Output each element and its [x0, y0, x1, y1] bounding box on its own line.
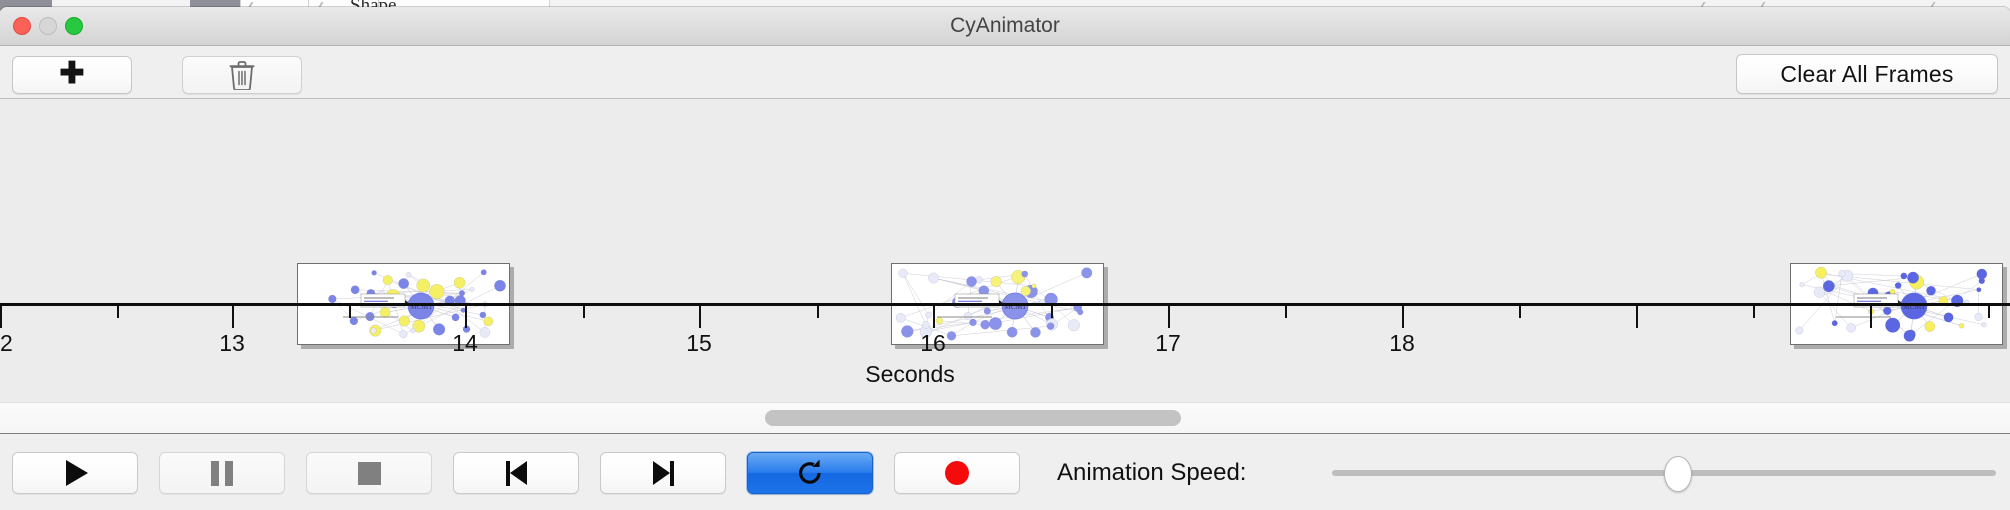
ruler-major-tick — [1402, 306, 1404, 328]
playback-controls-bar: Animation Speed: — [0, 434, 2010, 510]
ruler-major-tick — [933, 306, 935, 328]
pause-button[interactable] — [159, 452, 285, 494]
ruler-axis-caption: Seconds — [865, 361, 955, 388]
ruler-tick-label: 12 — [0, 330, 13, 357]
ruler-tick-label: 15 — [686, 330, 712, 357]
window-titlebar: CyAnimator — [0, 7, 2010, 46]
ruler-major-tick — [0, 306, 2, 328]
record-button[interactable] — [894, 452, 1020, 494]
ruler-major-tick — [699, 306, 701, 328]
ruler-tick-label: 17 — [1155, 330, 1181, 357]
ruler-minor-tick — [1285, 306, 1287, 318]
ruler-minor-tick — [1519, 306, 1521, 318]
ruler-tick-label: 14 — [452, 330, 478, 357]
ruler-minor-tick — [1051, 306, 1053, 318]
play-button[interactable] — [12, 452, 138, 494]
loop-button[interactable] — [747, 452, 873, 494]
timeline-ruler: 12131415161718 Seconds — [0, 303, 2010, 402]
horizontal-scrollbar-track[interactable] — [0, 402, 2010, 434]
ruler-major-tick — [1870, 306, 1872, 328]
clear-all-frames-button[interactable]: Clear All Frames — [1736, 54, 1998, 94]
stop-button[interactable] — [306, 452, 432, 494]
timeline-panel[interactable]: MCM1MCM1MCM1 12131415161718 Seconds — [0, 99, 2010, 402]
ruler-tick-label: 13 — [219, 330, 245, 357]
trash-icon — [229, 60, 255, 90]
skip-start-icon — [506, 461, 527, 486]
ruler-major-tick — [232, 306, 234, 328]
ruler-major-tick — [1168, 306, 1170, 328]
play-icon — [66, 460, 88, 486]
ruler-major-tick — [1636, 306, 1638, 328]
frames-toolbar: ✚ Clear All Frames — [0, 46, 2010, 99]
skip-end-button[interactable] — [600, 452, 726, 494]
plus-icon: ✚ — [59, 59, 84, 89]
animation-speed-label: Animation Speed: — [1057, 434, 1246, 510]
ruler-minor-tick — [817, 306, 819, 318]
record-icon — [945, 461, 969, 485]
stop-icon — [358, 462, 381, 485]
ruler-minor-tick — [583, 306, 585, 318]
window-title: CyAnimator — [0, 7, 2010, 45]
ruler-major-tick — [465, 306, 467, 328]
ruler-tick-label: 16 — [920, 330, 946, 357]
delete-frame-button[interactable] — [182, 56, 302, 94]
ruler-axis-line — [0, 303, 2010, 306]
skip-start-button[interactable] — [453, 452, 579, 494]
cyanimator-window: CyAnimator ✚ Clear All Frames MCM1MCM1 — [0, 7, 2010, 510]
loop-icon — [795, 458, 825, 488]
add-frame-button[interactable]: ✚ — [12, 56, 132, 94]
ruler-minor-tick — [349, 306, 351, 318]
ruler-minor-tick — [117, 306, 119, 318]
clear-all-frames-label: Clear All Frames — [1780, 61, 1953, 88]
ruler-minor-tick — [1753, 306, 1755, 318]
frames-track[interactable]: MCM1MCM1MCM1 — [0, 99, 2010, 303]
ruler-minor-tick — [1988, 306, 1990, 318]
animation-speed-slider[interactable] — [1332, 434, 1996, 510]
pause-icon — [211, 461, 233, 486]
horizontal-scrollbar-thumb[interactable] — [765, 410, 1181, 426]
skip-end-icon — [653, 461, 674, 486]
animation-speed-slider-thumb[interactable] — [1664, 456, 1692, 492]
ruler-tick-label: 18 — [1389, 330, 1415, 357]
cyanimator-screenshot: Shape CyAnimator ✚ — [0, 0, 2010, 510]
